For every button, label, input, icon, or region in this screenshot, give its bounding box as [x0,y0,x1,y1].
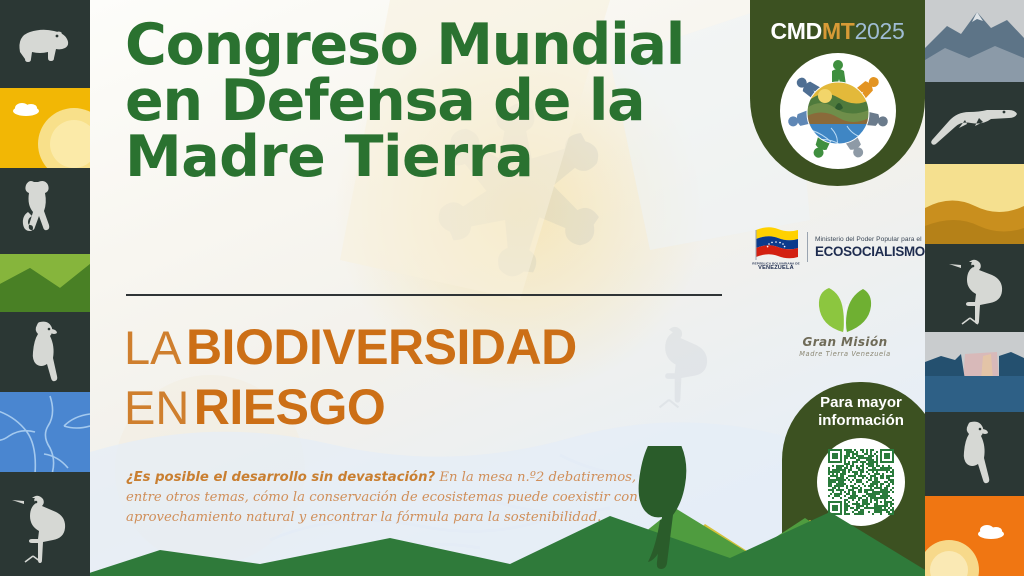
people-around-globe-emblem [777,50,899,172]
gran-mision-logo: Gran Misión Madre Tierra Venezuela [790,286,900,366]
left-tile-river [0,392,90,472]
heron-icon [925,244,1024,332]
left-tile-monkey [0,168,90,254]
subtitle-la: LA [124,321,182,374]
parrot-icon [925,412,1024,496]
right-tile-orange-sun [925,496,1024,576]
subtitle-en: EN [124,381,189,434]
dunes-icon [925,164,1024,244]
poster-body-text: ¿Es posible el desarrollo sin devastació… [126,468,666,527]
ministry-text: Ministerio del Poder Popular para el ECO… [815,236,925,259]
cmdmt-year: 2025 [855,18,905,44]
flag-svg: REPÚBLICA BOLIVARIANA DE VENEZUELA [752,224,800,270]
left-tile-parrot [0,312,90,392]
poster-subtitle: LA BIODIVERSIDAD EN RIESGO [124,320,577,434]
sun-cloud-icon [0,88,90,168]
cmdmt-mt: MT [822,18,855,44]
gran-mision-line-1: Gran Misión [790,335,900,349]
capybara-icon [0,0,90,88]
gran-mision-line-2: Madre Tierra Venezuela [790,350,900,358]
qr-code[interactable] [828,449,894,515]
monkey-icon [0,168,90,254]
qr-title-line-1: Para mayor [782,394,925,412]
right-tile-mountains [925,0,1024,82]
right-tile-tepui [925,332,1024,412]
title-divider [126,294,722,296]
ministry-line-2: ECOSOCIALISMO [815,244,925,259]
right-image-strip [925,0,1024,576]
cmdmt-brand-tab: CMDMT2025 [750,0,925,186]
river-icon [0,392,90,472]
cmdmt-wordmark: CMDMT2025 [750,18,925,45]
qr-title: Para mayor información [782,394,925,429]
left-tile-heron [0,472,90,576]
right-tile-dunes [925,164,1024,244]
left-image-strip [0,0,90,576]
cmdmt-cmd: CMD [770,18,821,44]
right-tile-heron [925,244,1024,332]
venezuela-flag-icon: REPÚBLICA BOLIVARIANA DE VENEZUELA [752,224,800,270]
two-leaves-icon [805,286,885,334]
heron-icon [0,472,90,576]
subtitle-biodiversidad: BIODIVERSIDAD [186,319,577,375]
crocodile-icon [925,82,1024,164]
subtitle-line-2: EN RIESGO [124,380,577,434]
mountain-icon [925,0,1024,82]
qr-disc [817,438,905,526]
qr-info-block[interactable]: Para mayor información [782,382,925,576]
title-line-2: en Defensa de la [125,74,725,130]
left-tile-hills [0,254,90,312]
svg-text:VENEZUELA: VENEZUELA [758,265,794,270]
right-tile-crocodile [925,82,1024,164]
title-line-1: Congreso Mundial [125,18,725,74]
main-panel: Congreso Mundial en Defensa de la Madre … [90,0,925,576]
body-lead-question: ¿Es posible el desarrollo sin devastació… [126,470,435,485]
subtitle-line-1: LA BIODIVERSIDAD [124,320,577,374]
ministry-line-1: Ministerio del Poder Popular para el [815,236,925,243]
hills-icon [0,254,90,312]
poster-title: Congreso Mundial en Defensa de la Madre … [125,18,725,186]
poster-root: Congreso Mundial en Defensa de la Madre … [0,0,1024,576]
left-tile-capybara [0,0,90,88]
title-line-3: Madre Tierra [125,130,725,186]
qr-title-line-2: información [782,412,925,430]
logo-divider [807,232,808,262]
subtitle-riesgo: RIESGO [194,379,385,435]
sun-cloud-icon [925,496,1024,576]
left-tile-sun-cloud [0,88,90,168]
right-tile-parrot [925,412,1024,496]
tepui-icon [925,332,1024,412]
parrot-icon [0,312,90,392]
ministry-logo: REPÚBLICA BOLIVARIANA DE VENEZUELA Minis… [752,222,925,272]
